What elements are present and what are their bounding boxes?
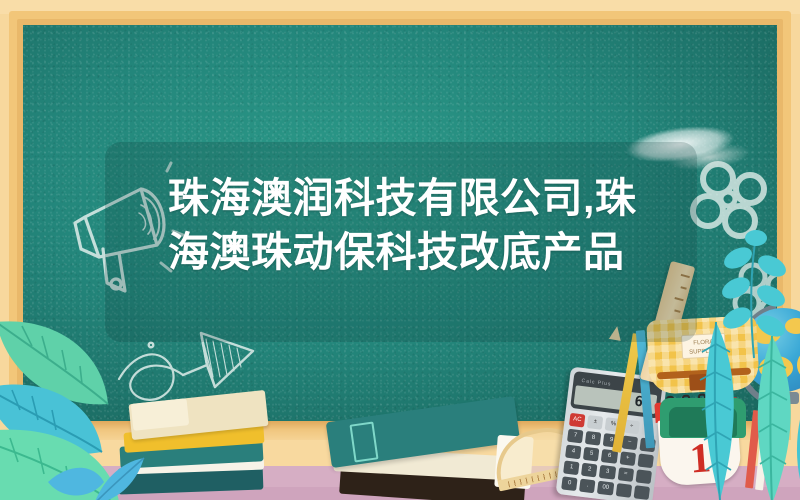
calculator-key[interactable]: 7 [567,429,584,444]
calculator-key[interactable]: 3 [599,465,616,480]
calculator-key[interactable]: 0 [561,476,578,491]
leaf-sprig-bottom-left [86,452,166,500]
calculator-key[interactable]: . [579,479,596,494]
calculator-key[interactable] [615,483,632,498]
calculator-key[interactable]: 2 [581,463,598,478]
page-title-line-1: 珠海澳润科技有限公司,珠 [168,171,638,225]
calculator-key[interactable] [633,485,650,500]
calculator-key[interactable]: 5 [583,447,600,462]
page-title-line-2: 海澳珠动保科技改底产品 [168,225,638,279]
calculator-key[interactable]: 8 [585,431,602,446]
calculator-key[interactable]: − [621,435,638,450]
leaf-sprig-upper-right [714,230,800,360]
calculator-key[interactable]: = [617,467,634,482]
calculator-key[interactable] [635,469,652,484]
banner-canvas: Calc Plus 64 AC ± % ÷ x 7 8 9 − 4 5 6 + … [0,0,800,500]
calculator-key[interactable]: ± [587,415,604,430]
calculator-key[interactable]: AC [569,413,586,428]
book-cover-emblem [349,422,378,463]
calculator-key[interactable]: 00 [597,481,614,496]
calculator-key[interactable]: 1 [563,460,580,475]
calculator-key[interactable]: 4 [565,445,582,460]
page-title: 珠海澳润科技有限公司,珠 海澳珠动保科技改底产品 [168,171,638,279]
calculator-key[interactable]: + [619,451,636,466]
calculator-key[interactable] [637,453,654,468]
